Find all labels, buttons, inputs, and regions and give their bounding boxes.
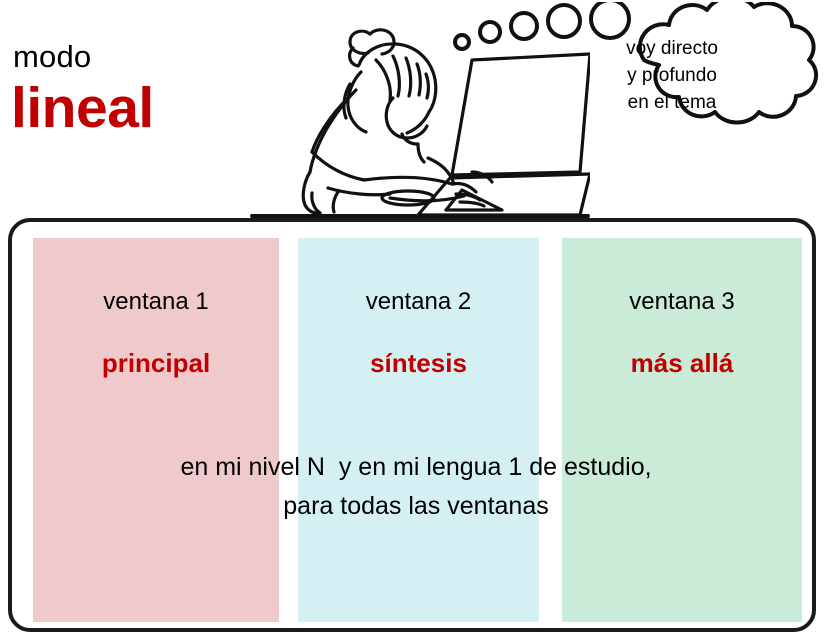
- window-label-1: ventana 1: [33, 288, 279, 316]
- window-keyword-3: más allá: [562, 348, 802, 379]
- window-label-2: ventana 2: [298, 288, 539, 316]
- window-keyword-2: síntesis: [298, 348, 539, 379]
- window-column-3[interactable]: ventana 3 más allá: [562, 238, 802, 622]
- windows-panel: ventana 1 principal ventana 2 síntesis v…: [8, 218, 816, 632]
- header: modo lineal: [0, 0, 826, 218]
- window-column-2[interactable]: ventana 2 síntesis: [298, 238, 539, 622]
- page-title: lineal: [11, 80, 154, 137]
- mode-word-label: modo: [13, 41, 91, 72]
- window-label-3: ventana 3: [562, 288, 802, 316]
- thought-bubble-line-1: voy directo: [572, 36, 772, 63]
- windows-row: ventana 1 principal ventana 2 síntesis v…: [12, 222, 820, 636]
- thought-bubble-text: voy directo y profundo en el tema: [572, 36, 772, 117]
- window-keyword-1: principal: [33, 348, 279, 379]
- window-column-1[interactable]: ventana 1 principal: [33, 238, 279, 622]
- thought-bubble-line-3: en el tema: [572, 90, 772, 117]
- thought-bubble-line-2: y profundo: [572, 63, 772, 90]
